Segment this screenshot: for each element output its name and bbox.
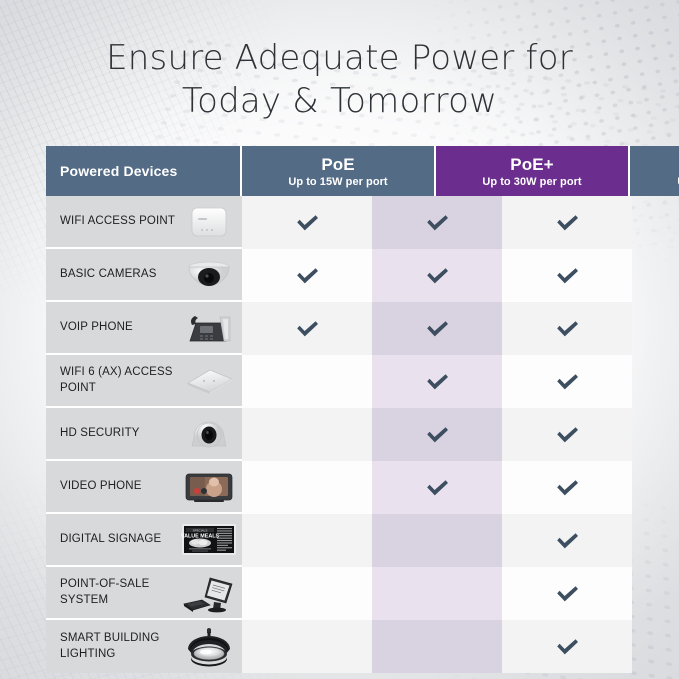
support-cell-poe: [242, 408, 372, 461]
support-cell-poeplus: [372, 249, 502, 302]
column-subtitle: Up to 15W per port: [288, 176, 387, 188]
wifi6-access-point-image: [180, 358, 238, 403]
support-cell-poeplus: [372, 461, 502, 514]
support-cell-poeplus: [372, 355, 502, 408]
checkmark-icon: [554, 212, 581, 234]
digital-signage-display-image: SPECIALS VALUE MEALS: [180, 517, 238, 562]
device-label: VIDEO PHONE: [60, 479, 180, 494]
support-cell-poe: [242, 567, 372, 620]
device-cell: DIGITAL SIGNAGE SPECIALS VALUE MEALS: [46, 514, 242, 567]
checkmark-icon: [294, 318, 321, 340]
table-row: WIFI 6 (AX) ACCESS POINT: [46, 355, 632, 408]
checkmark-icon: [554, 636, 581, 658]
support-cell-poeplus: [372, 302, 502, 355]
page-title-line-1: Ensure Adequate Power for: [106, 38, 573, 78]
device-cell: BASIC CAMERAS: [46, 249, 242, 302]
device-label: VOIP PHONE: [60, 320, 180, 335]
device-cell: POINT-OF-SALE SYSTEM: [46, 567, 242, 620]
device-label: BASIC CAMERAS: [60, 267, 180, 282]
support-cell-poeplusplus: [502, 196, 632, 249]
checkmark-icon: [554, 265, 581, 287]
table-row: POINT-OF-SALE SYSTEM: [46, 567, 632, 620]
checkmark-icon: [554, 371, 581, 393]
poe-comparison-table: Powered Devices PoE Up to 15W per port P…: [46, 146, 632, 673]
support-cell-poeplus: [372, 567, 502, 620]
table-row: WIFI ACCESS POINT: [46, 196, 632, 249]
checkmark-icon: [424, 424, 451, 446]
support-cell-poeplusplus: [502, 355, 632, 408]
support-cell-poeplusplus: [502, 249, 632, 302]
device-label: WIFI ACCESS POINT: [60, 214, 180, 229]
device-cell: VIDEO PHONE: [46, 461, 242, 514]
device-label: POINT-OF-SALE SYSTEM: [60, 577, 180, 607]
table-header-row: Powered Devices PoE Up to 15W per port P…: [46, 146, 632, 196]
support-cell-poe: [242, 620, 372, 673]
checkmark-icon: [554, 424, 581, 446]
checkmark-icon: [554, 477, 581, 499]
table-row: VOIP PHONE: [46, 302, 632, 355]
support-cell-poeplus: [372, 514, 502, 567]
table-row: HD SECURITY: [46, 408, 632, 461]
turret-camera-image: [180, 411, 238, 456]
device-cell: WIFI 6 (AX) ACCESS POINT: [46, 355, 242, 408]
device-cell: WIFI ACCESS POINT: [46, 196, 242, 249]
checkmark-icon: [424, 318, 451, 340]
support-cell-poeplusplus: [502, 514, 632, 567]
video-phone-image: [180, 464, 238, 509]
support-cell-poe: [242, 249, 372, 302]
device-label: SMART BUILDING LIGHTING: [60, 631, 180, 661]
page-title-line-2: Today & Tomorrow: [0, 80, 679, 123]
table-header-column-poeplusplus: PoE++ Up to 60W per port: [630, 146, 679, 196]
dome-camera-image: [180, 252, 238, 297]
checkmark-icon: [294, 265, 321, 287]
pos-terminal-image: [180, 570, 238, 615]
column-subtitle: Up to 30W per port: [482, 176, 581, 188]
table-header-column-poeplus: PoE+ Up to 30W per port: [436, 146, 630, 196]
table-header-column-poe: PoE Up to 15W per port: [242, 146, 436, 196]
support-cell-poe: [242, 461, 372, 514]
wifi-access-point-image: [180, 199, 238, 244]
support-cell-poe: [242, 514, 372, 567]
support-cell-poeplus: [372, 196, 502, 249]
support-cell-poe: [242, 302, 372, 355]
table-row: BASIC CAMERAS: [46, 249, 632, 302]
device-label: WIFI 6 (AX) ACCESS POINT: [60, 365, 180, 395]
support-cell-poeplusplus: [502, 408, 632, 461]
svg-text:SPECIALS: SPECIALS: [193, 528, 208, 532]
column-title: PoE: [321, 155, 354, 175]
checkmark-icon: [294, 212, 321, 234]
support-cell-poeplusplus: [502, 567, 632, 620]
support-cell-poeplusplus: [502, 461, 632, 514]
table-body: WIFI ACCESS POINT BASIC CAMERAS: [46, 196, 632, 673]
checkmark-icon: [554, 318, 581, 340]
device-cell: SMART BUILDING LIGHTING: [46, 620, 242, 673]
table-row: DIGITAL SIGNAGE SPECIALS VALUE MEALS: [46, 514, 632, 567]
device-cell: VOIP PHONE: [46, 302, 242, 355]
support-cell-poe: [242, 355, 372, 408]
powered-devices-label: Powered Devices: [60, 163, 177, 179]
table-row: VIDEO PHONE: [46, 461, 632, 514]
page-title: Ensure Adequate Power for Today & Tomorr…: [0, 37, 679, 123]
device-label: HD SECURITY: [60, 426, 180, 441]
checkmark-icon: [424, 265, 451, 287]
checkmark-icon: [424, 477, 451, 499]
support-cell-poeplus: [372, 408, 502, 461]
checkmark-icon: [554, 583, 581, 605]
support-cell-poe: [242, 196, 372, 249]
infographic-page: Ensure Adequate Power for Today & Tomorr…: [0, 0, 679, 679]
checkmark-icon: [424, 371, 451, 393]
checkmark-icon: [554, 530, 581, 552]
support-cell-poeplusplus: [502, 620, 632, 673]
table-row: SMART BUILDING LIGHTING: [46, 620, 632, 673]
device-label: DIGITAL SIGNAGE: [60, 532, 180, 547]
voip-desk-phone-image: [180, 305, 238, 350]
checkmark-icon: [424, 212, 451, 234]
table-header-powered-devices: Powered Devices: [46, 146, 242, 196]
support-cell-poeplusplus: [502, 302, 632, 355]
support-cell-poeplus: [372, 620, 502, 673]
high-bay-light-image: [180, 624, 238, 669]
column-title: PoE+: [510, 155, 553, 175]
device-cell: HD SECURITY: [46, 408, 242, 461]
